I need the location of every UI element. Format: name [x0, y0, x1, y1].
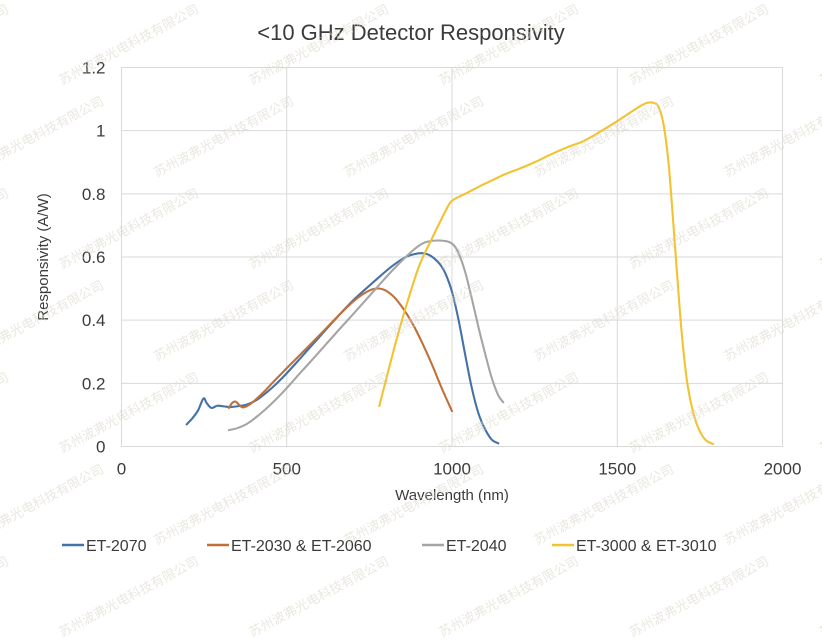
series-line-et-2030-et-2060 [229, 288, 452, 411]
x-axis-title: Wavelength (nm) [395, 487, 509, 504]
x-axis-tick-label: 1000 [433, 460, 471, 479]
legend-label-2[interactable]: ET-2030 & ET-2060 [231, 538, 372, 555]
y-axis-tick-labels: 00.20.40.60.811.2 [82, 59, 106, 457]
legend-label-4[interactable]: ET-3000 & ET-3010 [576, 538, 717, 555]
series-line-et-3000-et-3010 [379, 102, 713, 444]
y-axis-tick-label: 0 [96, 438, 105, 457]
y-axis-title: Responsivity (A/W) [35, 193, 52, 321]
y-axis-tick-label: 0.8 [82, 185, 106, 204]
x-axis-tick-label: 500 [273, 460, 301, 479]
x-axis-tick-labels: 0500100015002000 [117, 460, 802, 479]
legend-label-3[interactable]: ET-2040 [446, 538, 507, 555]
y-axis-tick-label: 0.4 [82, 311, 106, 330]
y-axis-tick-label: 0.2 [82, 374, 106, 393]
legend-label-1[interactable]: ET-2070 [86, 538, 147, 555]
x-axis-tick-label: 0 [117, 460, 126, 479]
chart-title: <10 GHz Detector Responsivity [257, 20, 565, 45]
y-axis-tick-label: 1 [96, 122, 105, 141]
grid-lines [122, 68, 783, 447]
x-axis-tick-label: 1500 [598, 460, 636, 479]
y-axis-tick-label: 0.6 [82, 248, 106, 267]
responsivity-line-chart: <10 GHz Detector Responsivity 00.20.40.6… [0, 0, 822, 576]
y-axis-tick-label: 1.2 [82, 59, 106, 78]
chart-legend: ET-2070ET-2030 & ET-2060ET-2040ET-3000 &… [62, 538, 717, 555]
chart-container: 苏州波弗光电科技有限公司苏州波弗光电科技有限公司苏州波弗光电科技有限公司苏州波弗… [0, 0, 822, 576]
x-axis-tick-label: 2000 [764, 460, 802, 479]
data-series-group [187, 102, 713, 444]
